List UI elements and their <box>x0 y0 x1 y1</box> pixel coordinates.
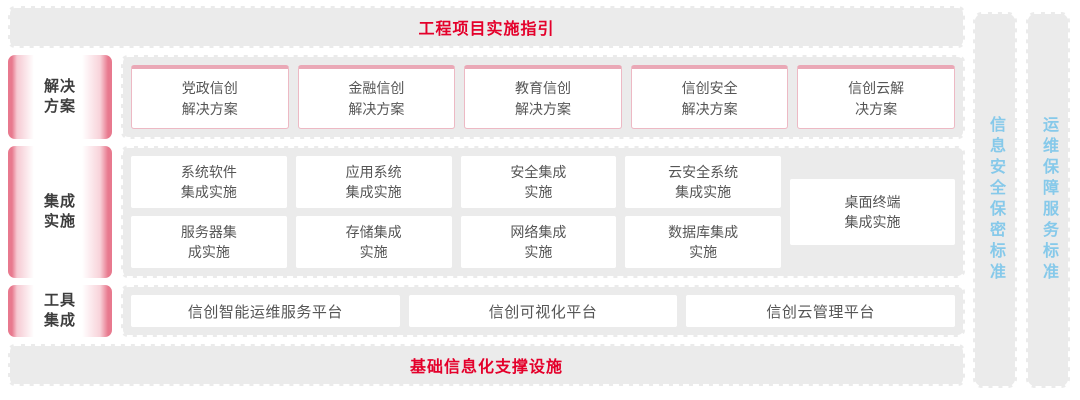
card-line: 成实施 <box>181 242 237 262</box>
sidebar-label-solutions-text: 解决 方案 <box>44 77 76 118</box>
solution-card-label: 党政信创 解决方案 <box>182 78 238 119</box>
vertical-panel-label: 信息安全保密标准 <box>987 116 1003 284</box>
integration-card[interactable]: 应用系统 集成实施 <box>296 156 452 208</box>
sidebar-label-line: 解决 <box>44 77 76 97</box>
integration-card[interactable]: 存储集成 实施 <box>296 216 452 268</box>
tool-card[interactable]: 信创智能运维服务平台 <box>131 295 400 327</box>
card-line: 集成实施 <box>668 182 738 202</box>
tools-card-row: 信创智能运维服务平台 信创可视化平台 信创云管理平台 <box>131 295 955 327</box>
sidebar-label-line: 集成 <box>44 311 76 331</box>
card-line: 应用系统 <box>346 162 402 182</box>
card-line: 集成实施 <box>181 182 237 202</box>
card-line: 安全集成 <box>510 162 566 182</box>
card-line: 集成实施 <box>346 182 402 202</box>
band-tools: 工具 集成 信创智能运维服务平台 信创可视化平台 信创云管理平台 <box>8 285 965 337</box>
solution-card[interactable]: 教育信创 解决方案 <box>464 65 622 129</box>
integration-card-label: 存储集成 实施 <box>346 222 402 263</box>
solution-card-label: 教育信创 解决方案 <box>515 78 571 119</box>
sidebar-label-integration: 集成 实施 <box>8 146 112 278</box>
card-line: 实施 <box>346 242 402 262</box>
card-line: 金融信创 <box>348 78 404 98</box>
panel-tools: 信创智能运维服务平台 信创可视化平台 信创云管理平台 <box>121 285 965 337</box>
footer-banner: 基础信息化支撑设施 <box>8 344 965 386</box>
panel-solutions: 党政信创 解决方案 金融信创 解决方案 教育信创 解决方案 <box>121 55 965 139</box>
card-line: 集成实施 <box>845 212 901 232</box>
solution-card[interactable]: 信创云解 决方案 <box>797 65 955 129</box>
card-line: 解决方案 <box>182 99 238 119</box>
card-line: 网络集成 <box>510 222 566 242</box>
integration-card-label: 服务器集 成实施 <box>181 222 237 263</box>
tool-card[interactable]: 信创可视化平台 <box>409 295 678 327</box>
card-line: 教育信创 <box>515 78 571 98</box>
integration-card-label: 桌面终端 集成实施 <box>845 192 901 233</box>
integration-card-label: 安全集成 实施 <box>510 162 566 203</box>
vertical-panel-ops-standard: 运维保障服务标准 <box>1026 12 1070 388</box>
panel-integration: 系统软件 集成实施 应用系统 集成实施 安全集成 <box>121 146 965 278</box>
card-line: 党政信创 <box>182 78 238 98</box>
card-line: 服务器集 <box>181 222 237 242</box>
tool-card-label: 信创智能运维服务平台 <box>188 301 343 322</box>
card-line: 云安全系统 <box>668 162 738 182</box>
integration-card-label: 云安全系统 集成实施 <box>668 162 738 203</box>
card-line: 信创云解 <box>848 78 904 98</box>
page-title: 工程项目实施指引 <box>418 15 554 39</box>
sidebar-label-line: 工具 <box>44 291 76 311</box>
integration-card[interactable]: 云安全系统 集成实施 <box>625 156 781 208</box>
card-line: 解决方案 <box>682 99 738 119</box>
right-vertical-column: 信息安全保密标准 运维保障服务标准 <box>973 6 1074 394</box>
header-banner: 工程项目实施指引 <box>8 6 965 48</box>
footer-title: 基础信息化支撑设施 <box>410 353 563 377</box>
card-line: 实施 <box>510 182 566 202</box>
card-line: 存储集成 <box>346 222 402 242</box>
tool-card[interactable]: 信创云管理平台 <box>686 295 955 327</box>
integration-card[interactable]: 安全集成 实施 <box>461 156 617 208</box>
solution-card-label: 信创云解 决方案 <box>848 78 904 119</box>
integration-card-label: 应用系统 集成实施 <box>346 162 402 203</box>
main-column: 工程项目实施指引 解决 方案 党政信创 解决方案 <box>8 6 965 394</box>
integration-card[interactable]: 系统软件 集成实施 <box>131 156 287 208</box>
sidebar-label-integration-text: 集成 实施 <box>44 192 76 233</box>
integration-card-label: 数据库集成 实施 <box>668 222 738 263</box>
card-line: 系统软件 <box>181 162 237 182</box>
card-line: 数据库集成 <box>668 222 738 242</box>
tool-card-label: 信创可视化平台 <box>489 301 598 322</box>
solution-card[interactable]: 党政信创 解决方案 <box>131 65 289 129</box>
vertical-panel-label: 运维保障服务标准 <box>1040 116 1056 284</box>
solution-card-label: 金融信创 解决方案 <box>348 78 404 119</box>
integration-wrapper: 系统软件 集成实施 应用系统 集成实施 安全集成 <box>131 156 955 268</box>
integration-card-desktop-terminal[interactable]: 桌面终端 集成实施 <box>790 179 955 245</box>
sidebar-label-line: 方案 <box>44 97 76 117</box>
solutions-card-row: 党政信创 解决方案 金融信创 解决方案 教育信创 解决方案 <box>131 65 955 129</box>
card-line: 解决方案 <box>515 99 571 119</box>
card-line: 实施 <box>668 242 738 262</box>
card-line: 实施 <box>510 242 566 262</box>
card-line: 决方案 <box>848 99 904 119</box>
card-line: 桌面终端 <box>845 192 901 212</box>
vertical-panel-security-standard: 信息安全保密标准 <box>973 12 1017 388</box>
band-integration: 集成 实施 系统软件 集成实施 <box>8 146 965 278</box>
sidebar-label-line: 实施 <box>44 212 76 232</box>
sidebar-label-tools-text: 工具 集成 <box>44 291 76 332</box>
card-line: 信创安全 <box>682 78 738 98</box>
tool-card-label: 信创云管理平台 <box>766 301 875 322</box>
integration-card[interactable]: 数据库集成 实施 <box>625 216 781 268</box>
sidebar-label-tools: 工具 集成 <box>8 285 112 337</box>
band-solutions: 解决 方案 党政信创 解决方案 金融信创 解决方案 <box>8 55 965 139</box>
solution-card[interactable]: 信创安全 解决方案 <box>631 65 789 129</box>
integration-card-grid: 系统软件 集成实施 应用系统 集成实施 安全集成 <box>131 156 781 268</box>
diagram-root: 工程项目实施指引 解决 方案 党政信创 解决方案 <box>0 0 1080 400</box>
integration-card-label: 网络集成 实施 <box>510 222 566 263</box>
integration-card[interactable]: 服务器集 成实施 <box>131 216 287 268</box>
integration-card-label: 系统软件 集成实施 <box>181 162 237 203</box>
sidebar-label-solutions: 解决 方案 <box>8 55 112 139</box>
integration-card[interactable]: 网络集成 实施 <box>461 216 617 268</box>
solution-card-label: 信创安全 解决方案 <box>682 78 738 119</box>
card-line: 解决方案 <box>348 99 404 119</box>
solution-card[interactable]: 金融信创 解决方案 <box>298 65 456 129</box>
sidebar-label-line: 集成 <box>44 192 76 212</box>
